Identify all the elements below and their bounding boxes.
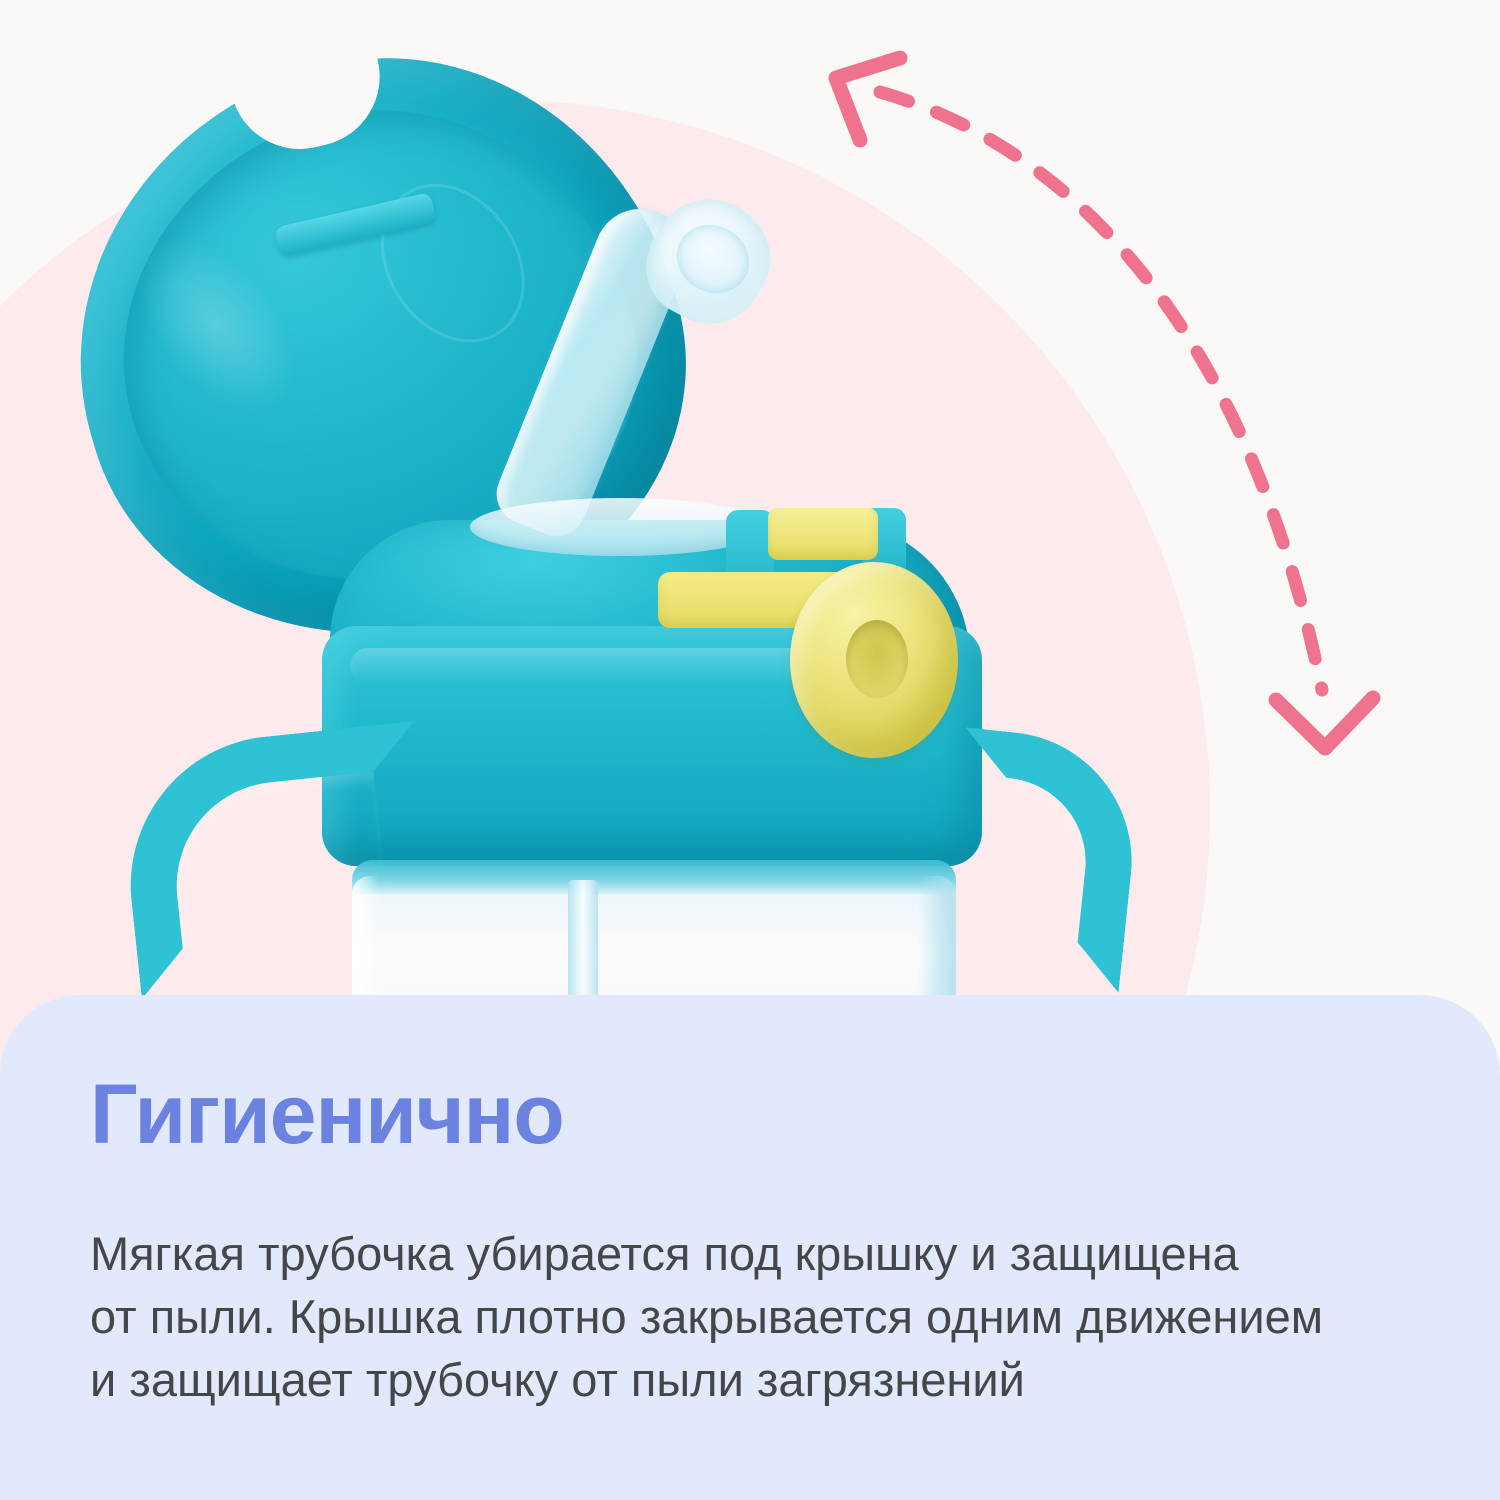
card-description-line-2: от пыли. Крышка плотно закрывается одним… [90, 1285, 1450, 1348]
arrow-dashed-arc [880, 92, 1322, 690]
product-feature-slide: Гигиенично Мягкая трубочка убирается под… [0, 0, 1500, 1500]
page-title: Гигиенично [90, 1072, 564, 1156]
arrow-head-down [1276, 698, 1373, 748]
card-description-line-1: Мягкая трубочка убирается под крышку и з… [90, 1222, 1450, 1285]
card-description: Мягкая трубочка убирается под крышку и з… [90, 1222, 1450, 1411]
curved-dashed-double-arrow [0, 0, 1500, 1050]
card-description-line-3: и защищает трубочку от пыли загрязнений [90, 1348, 1450, 1411]
